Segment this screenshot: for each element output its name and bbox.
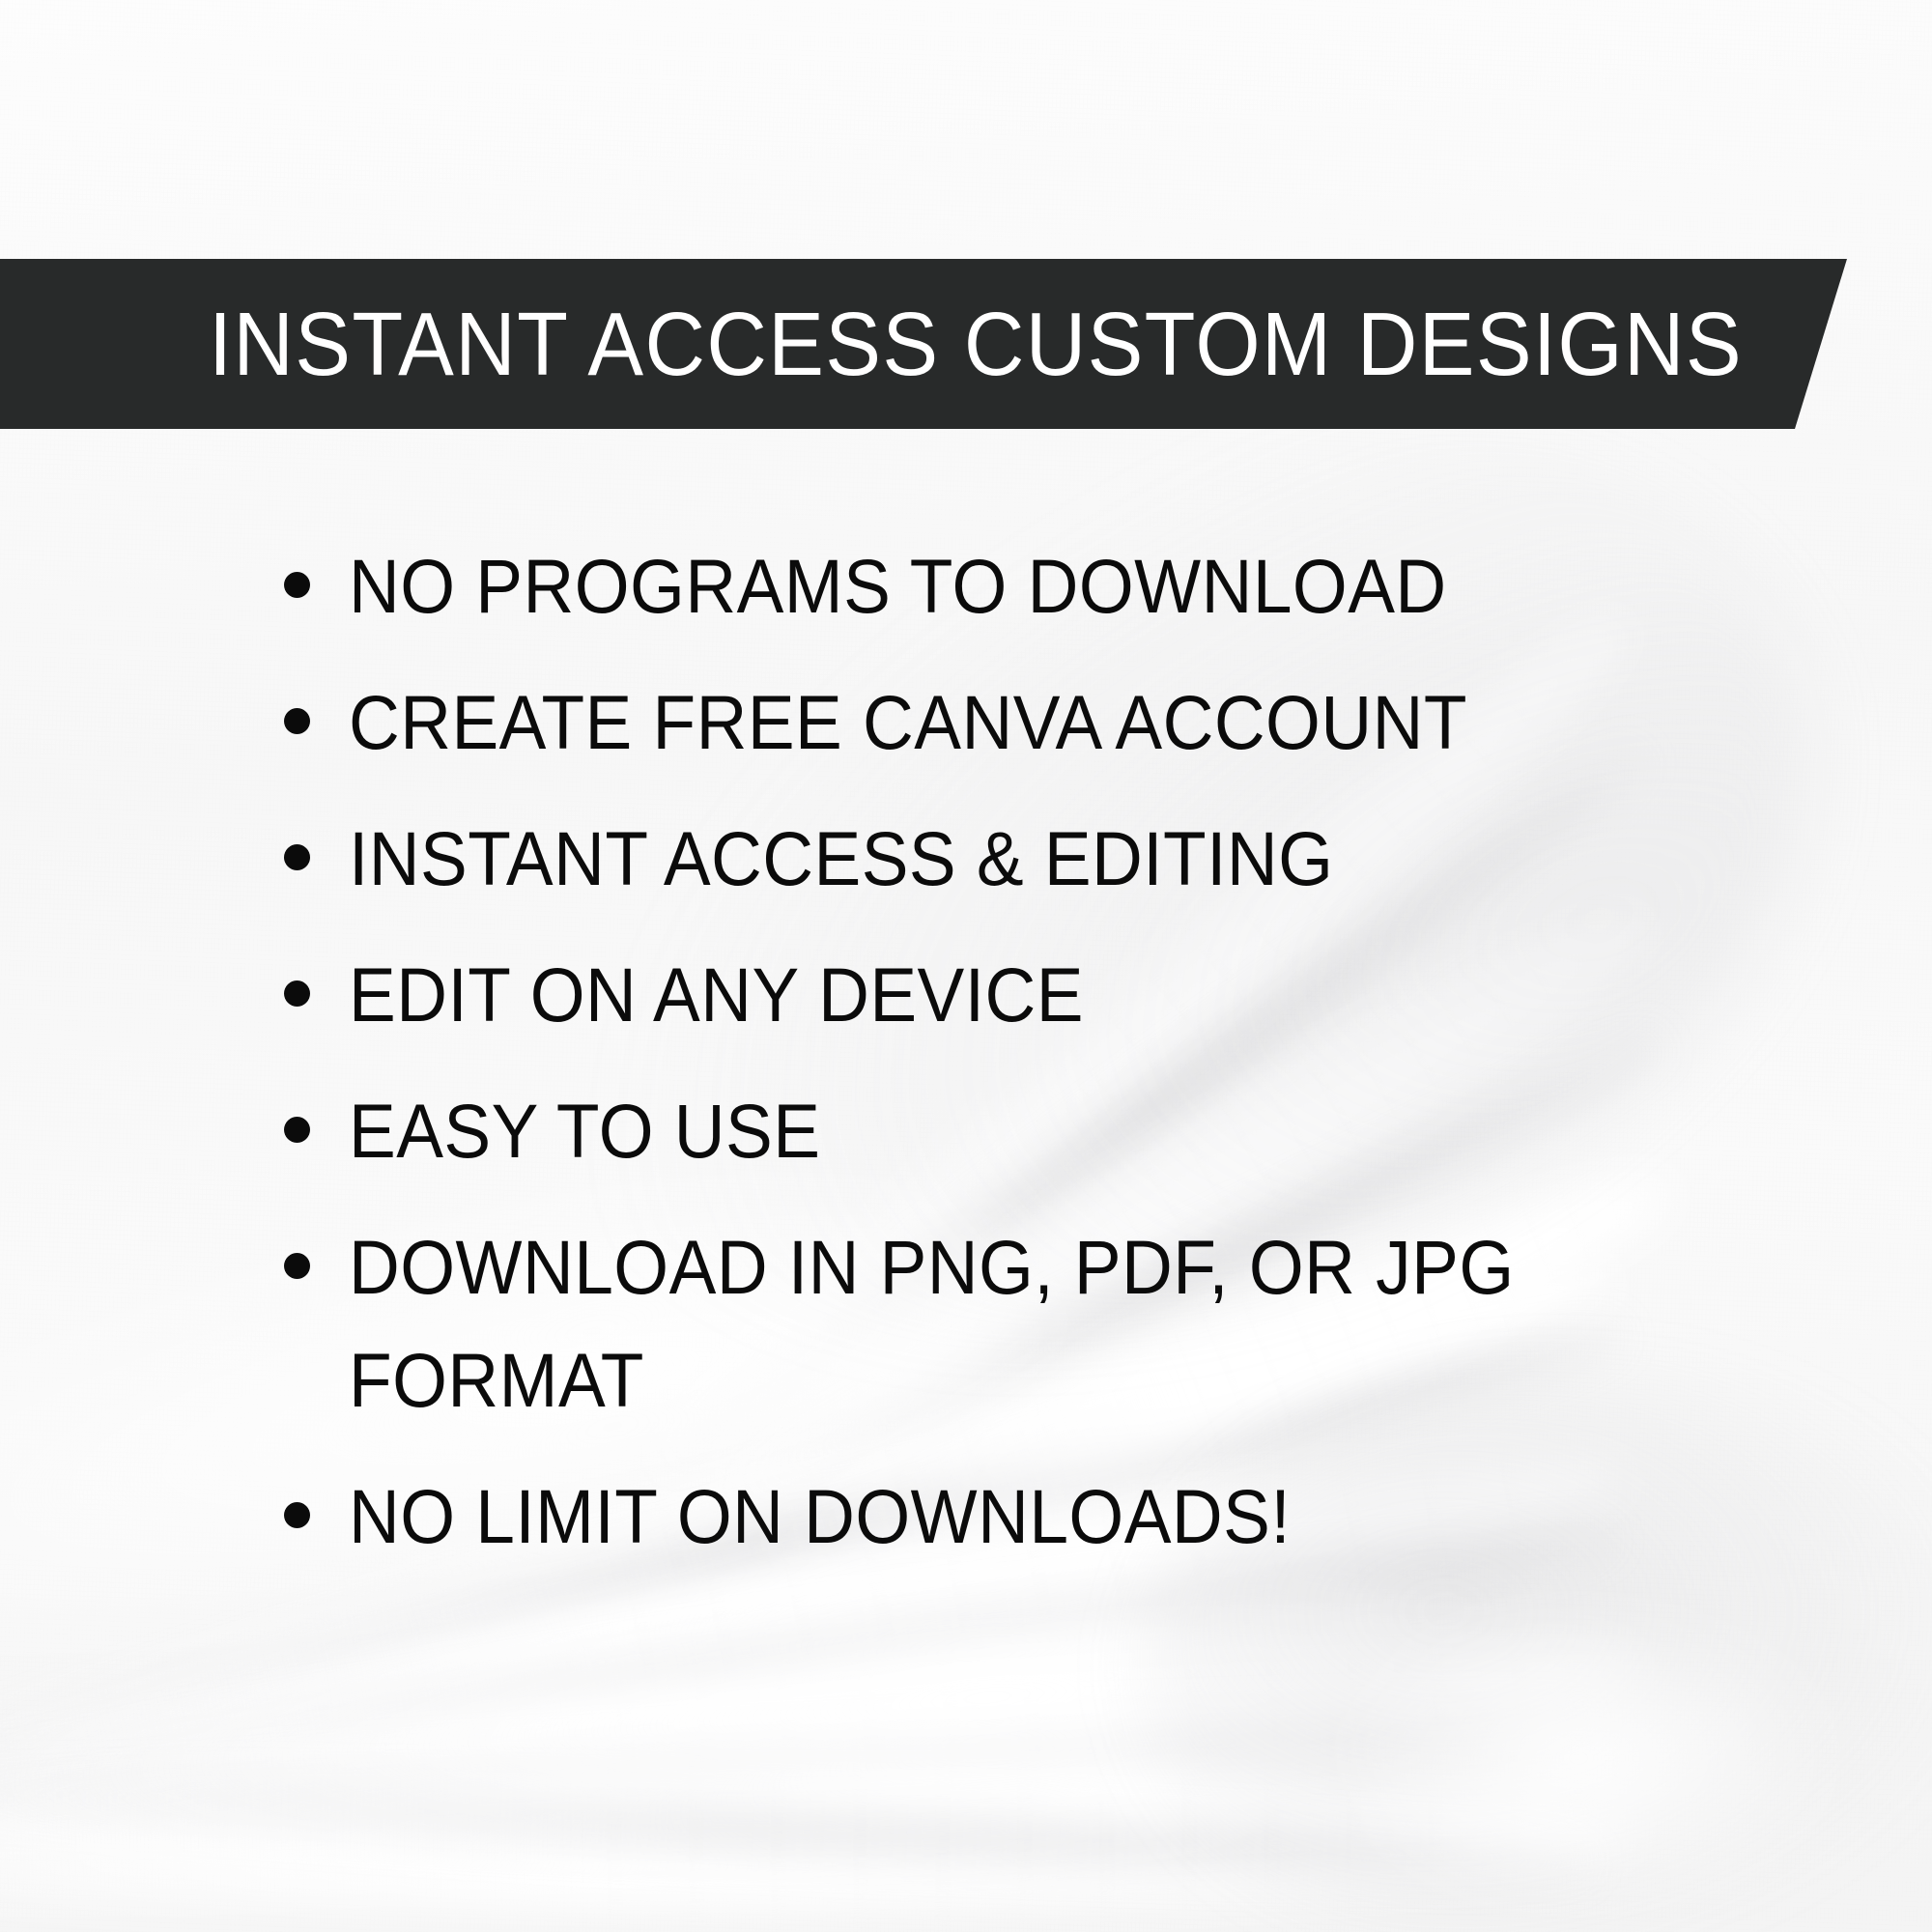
list-item: EDIT ON ANY DEVICE xyxy=(272,938,1625,1051)
list-item-label: NO PROGRAMS TO DOWNLOAD xyxy=(349,529,1447,642)
bullet-dot-icon xyxy=(284,708,310,734)
bullet-dot-icon xyxy=(284,1253,310,1279)
list-item-label: CREATE FREE CANVA ACCOUNT xyxy=(349,666,1467,779)
feature-list: NO PROGRAMS TO DOWNLOAD CREATE FREE CANV… xyxy=(272,529,1625,1573)
list-item: CREATE FREE CANVA ACCOUNT xyxy=(272,666,1625,779)
list-item: EASY TO USE xyxy=(272,1074,1625,1187)
list-item-label: INSTANT ACCESS & EDITING xyxy=(349,802,1333,915)
header-banner: INSTANT ACCESS CUSTOM DESIGNS xyxy=(0,259,1847,429)
page-title: INSTANT ACCESS CUSTOM DESIGNS xyxy=(209,259,1743,429)
list-item-label: EDIT ON ANY DEVICE xyxy=(349,938,1084,1051)
list-item: NO LIMIT ON DOWNLOADS! xyxy=(272,1460,1625,1573)
list-item: DOWNLOAD IN PNG, PDF, OR JPG FORMAT xyxy=(272,1210,1625,1436)
list-item: INSTANT ACCESS & EDITING xyxy=(272,802,1625,915)
list-item-label: EASY TO USE xyxy=(349,1074,820,1187)
bullet-dot-icon xyxy=(284,980,310,1007)
bullet-dot-icon xyxy=(284,1502,310,1528)
bullet-dot-icon xyxy=(284,844,310,870)
bullet-dot-icon xyxy=(284,1117,310,1143)
promo-graphic-canvas: INSTANT ACCESS CUSTOM DESIGNS NO PROGRAM… xyxy=(0,0,1932,1932)
list-item: NO PROGRAMS TO DOWNLOAD xyxy=(272,529,1625,642)
list-item-label: DOWNLOAD IN PNG, PDF, OR JPG FORMAT xyxy=(349,1210,1529,1436)
bullet-dot-icon xyxy=(284,572,310,598)
list-item-label: NO LIMIT ON DOWNLOADS! xyxy=(349,1460,1291,1573)
